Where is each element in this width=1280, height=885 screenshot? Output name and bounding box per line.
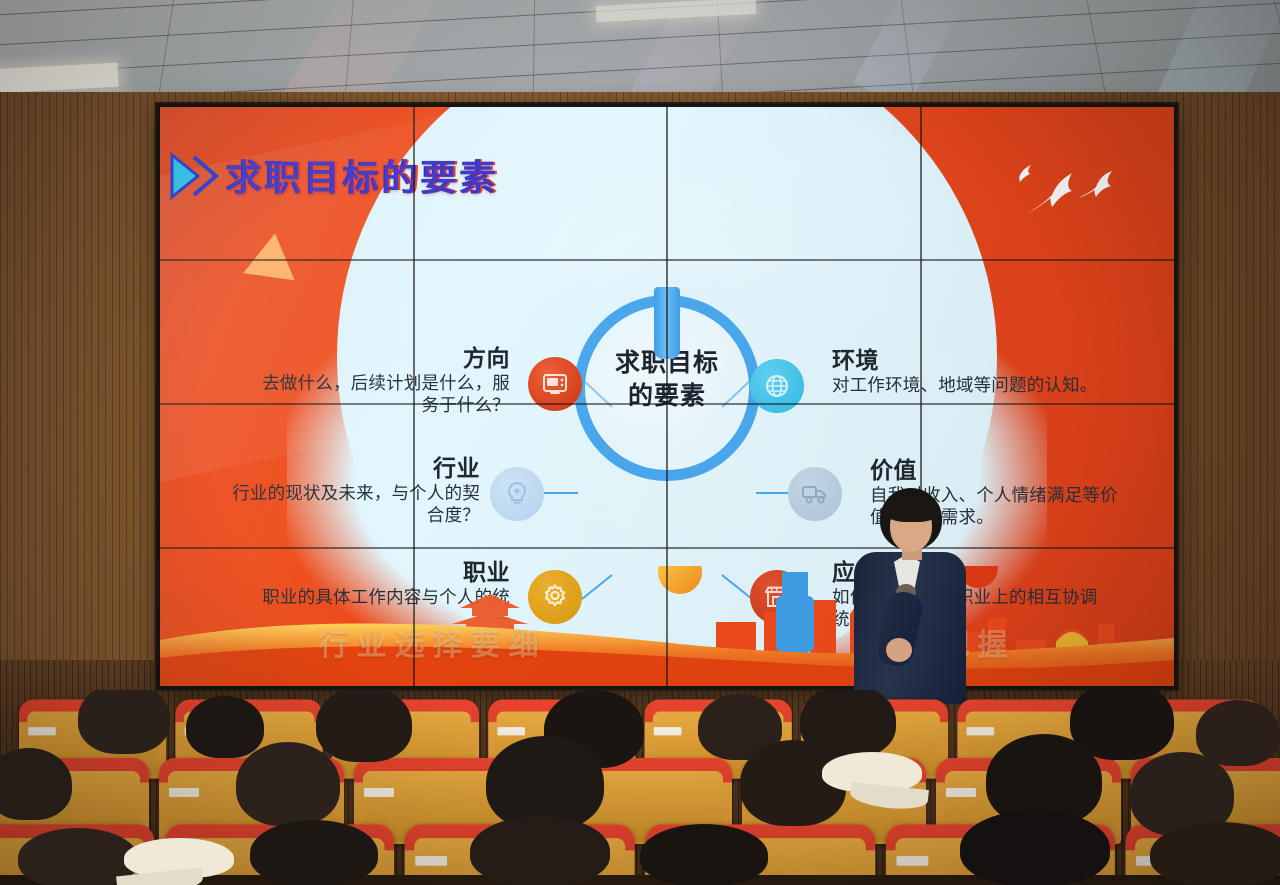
baseball-cap [124,838,234,885]
audience-head [1196,700,1280,766]
chevron-right-icon [168,151,226,201]
magnifier-handle [654,287,680,359]
presentation-slide: 求职目标的要素 求职目标 [160,107,1174,686]
item-heading: 方向 [260,345,510,372]
audience-head [250,820,378,885]
audience-head [236,742,340,826]
audience-head [640,824,768,885]
audience-head [316,690,412,762]
video-wall: 求职目标的要素 求职目标 [157,104,1177,689]
center-label-line2: 的要素 [574,380,760,413]
slide-footer-text: 行业选择要细 方向把握 [160,620,1174,664]
item-industry: 行业 行业的现状及未来，与个人的契合度？ [218,455,480,527]
slide-title: 求职目标的要素 [226,149,499,201]
truck-icon [800,480,830,508]
audience-head [78,690,170,754]
item-heading: 行业 [218,455,480,482]
item-direction: 方向 去做什么，后续计划是什么，服务于什么？ [260,345,510,417]
slide-triangle-accent [243,230,301,281]
node-direction [528,357,582,411]
presenter [840,488,970,703]
ceiling [0,0,1280,98]
presenter-fringe [884,496,940,522]
item-heading: 环境 [832,347,1100,374]
item-environment: 环境 对工作环境、地域等问题的认知。 [832,347,1100,396]
item-description: 行业的现状及未来，与个人的契合度？ [218,482,480,528]
presenter-hand [886,638,912,662]
item-description: 对工作环境、地域等问题的认知。 [832,374,1100,397]
footer-text-left: 行业选择要细 [319,620,547,664]
item-description: 去做什么，后续计划是什么，服务于什么？ [260,372,510,418]
audience-head [186,696,264,758]
lecture-hall-scene: 求职目标的要素 求职目标 [0,0,1280,885]
node-environment [750,359,804,413]
baseball-cap [822,752,922,808]
monitor-icon [541,370,569,398]
audience-area [0,690,1280,885]
item-heading: 价值 [870,457,1132,484]
lightbulb-icon [503,480,531,508]
audience-head [470,816,610,885]
cap-brim [849,782,929,812]
audience-head [1150,822,1280,885]
audience-head [960,810,1110,885]
flying-doves-icon [1006,151,1146,229]
node-value [788,467,842,521]
globe-icon [763,372,791,400]
node-industry [490,467,544,521]
